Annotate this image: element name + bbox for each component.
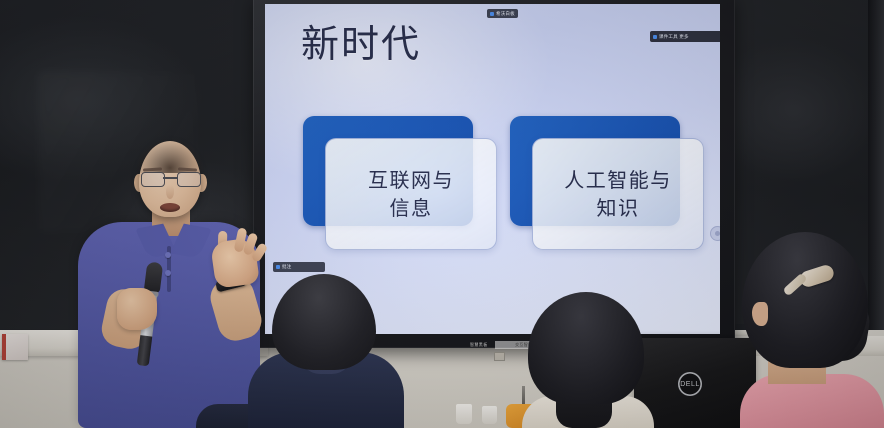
dell-logo-icon: DELL [678, 372, 702, 396]
card-1-line-2: 信息 [390, 198, 433, 218]
card-2-line-1: 人工智能与 [564, 170, 672, 190]
display-brand-label: 智慧黑板 [470, 342, 488, 348]
slide-card-1: 互联网与 信息 [303, 116, 495, 248]
presenter-hand-holding-mic [117, 288, 157, 330]
presenter-nose [166, 185, 174, 199]
desk-cup [456, 404, 472, 424]
slide-toolbar-chip-top-label: 希沃白板 [496, 11, 515, 17]
lecture-room-photo: 新时代 互联网与 信息 人工智能与 知识 希沃白板 课件工具 更多 [0, 0, 884, 428]
desk-cup [482, 406, 497, 424]
presenter-shirt-button [165, 252, 171, 258]
dell-logo-text: DELL [680, 381, 700, 388]
slide-toolbar-chip-top[interactable]: 希沃白板 [487, 9, 518, 18]
menu-icon [653, 35, 657, 39]
slide-toolbar-chip-top-right[interactable]: 课件工具 更多 [650, 31, 720, 42]
glasses-bridge [163, 177, 177, 179]
display-port [494, 352, 505, 361]
microphone-base [137, 335, 153, 366]
attendee-pink-top-head [742, 232, 868, 368]
card-2-line-2: 知识 [597, 198, 640, 218]
blackboard-seam [868, 0, 884, 330]
card-1-face: 互联网与 信息 [325, 138, 497, 250]
slide-toolbar-chip-left-label: 批注 [282, 264, 291, 270]
presenter-shirt-button [165, 270, 171, 276]
card-1-line-1: 互联网与 [368, 170, 454, 190]
card-2-face: 人工智能与 知识 [532, 138, 704, 250]
chalk-box [2, 334, 28, 360]
slide-title: 新时代 [301, 25, 421, 63]
glasses-icon [140, 172, 200, 185]
slide-toolbar-chip-top-right-label: 课件工具 更多 [659, 34, 689, 40]
more-orb-icon[interactable] [710, 226, 720, 241]
glasses-lens-left [141, 172, 165, 187]
slide-toolbar-chip-left[interactable]: 批注 [273, 262, 325, 272]
slide-card-2: 人工智能与 知识 [510, 116, 702, 248]
presenter-mouth [160, 203, 180, 212]
attendee-pink-top-ear [752, 302, 768, 326]
app-icon [490, 12, 494, 16]
pen-icon [276, 265, 280, 269]
glasses-lens-right [177, 172, 201, 187]
